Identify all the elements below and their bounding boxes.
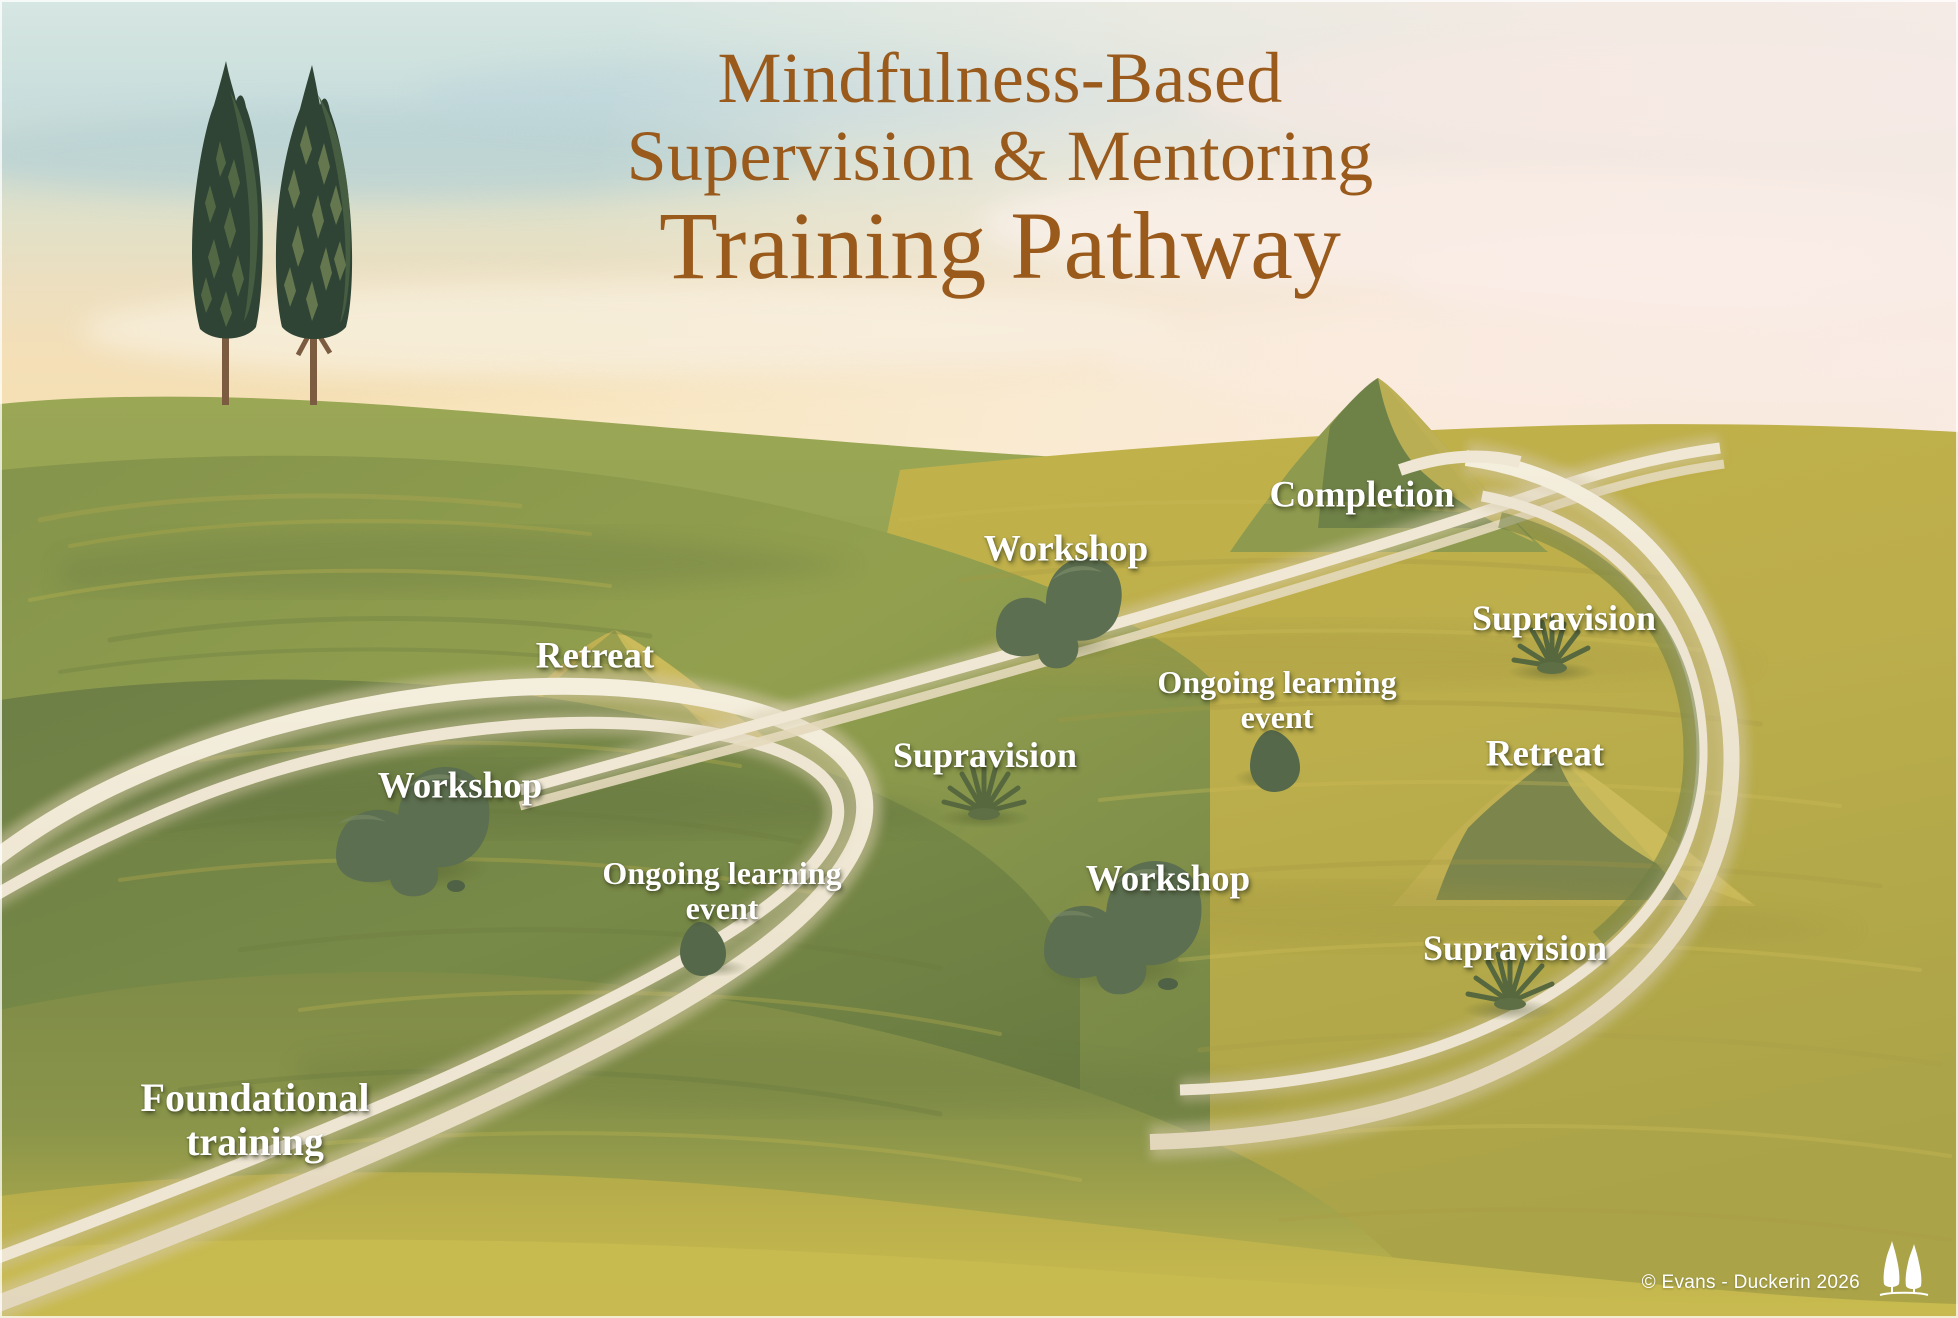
training-pathway-poster: Mindfulness-Based Supervision & Mentorin…: [0, 0, 1958, 1318]
stage-label-supravision-2[interactable]: Supravision: [1472, 599, 1656, 639]
stage-label-workshop-2[interactable]: Workshop: [1086, 860, 1251, 901]
title-line-3: Training Pathway: [560, 198, 1440, 294]
two-cypress-trees-logo-icon: [1876, 1238, 1932, 1300]
stage-label-supravision-1[interactable]: Supravision: [893, 736, 1077, 776]
stage-label-foundational-training[interactable]: Foundational training: [141, 1076, 370, 1164]
two-cypress-trees-icon: [170, 55, 400, 405]
poster-title: Mindfulness-Based Supervision & Mentorin…: [560, 42, 1440, 294]
stage-label-completion[interactable]: Completion: [1270, 476, 1455, 517]
stage-label-workshop-3[interactable]: Workshop: [984, 530, 1149, 571]
cypress-tree-left: [192, 61, 263, 405]
stage-label-retreat-1[interactable]: Retreat: [536, 637, 654, 678]
title-line-1: Mindfulness-Based: [560, 42, 1440, 114]
poster-footer: © Evans - Duckerin 2026: [1642, 1238, 1932, 1300]
stage-label-ongoing-learning-event-1[interactable]: Ongoing learning event: [602, 856, 841, 926]
cypress-trees-illustration: [170, 55, 400, 405]
stage-label-retreat-2[interactable]: Retreat: [1486, 735, 1604, 776]
title-line-2: Supervision & Mentoring: [560, 120, 1440, 192]
stage-label-workshop-1[interactable]: Workshop: [378, 767, 543, 808]
stage-label-ongoing-learning-event-2[interactable]: Ongoing learning event: [1157, 665, 1396, 735]
copyright-text: © Evans - Duckerin 2026: [1642, 1272, 1860, 1300]
stage-label-supravision-3[interactable]: Supravision: [1423, 929, 1607, 969]
cypress-tree-right: [276, 65, 352, 405]
